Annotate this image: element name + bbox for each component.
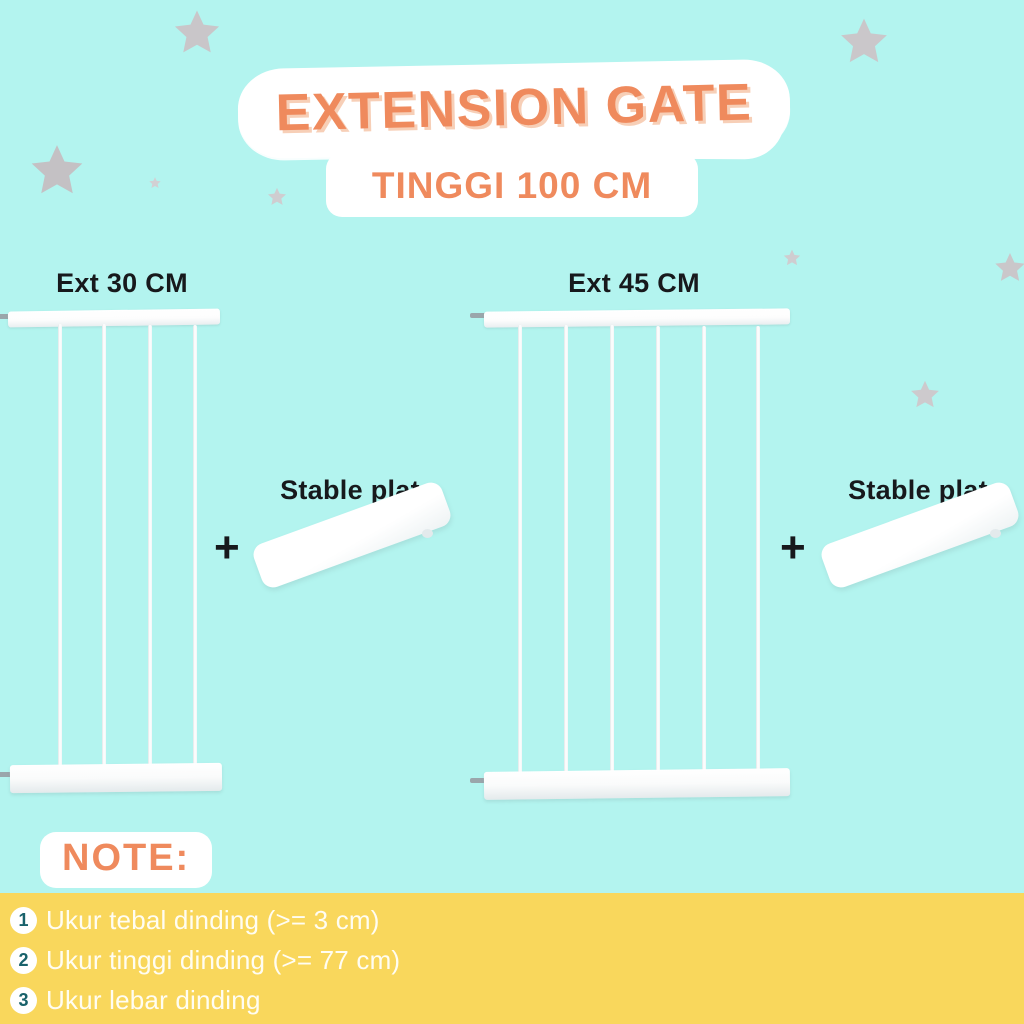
note-item: 2 Ukur tinggi dinding (>= 77 cm) — [10, 940, 610, 980]
gate-bar — [518, 325, 522, 782]
product-label-ext30: Ext 30 CM — [0, 268, 244, 299]
note-number-badge: 1 — [10, 907, 37, 934]
poster-canvas: EXTENSION GATE TINGGI 100 CM Ext 30 CM +… — [0, 0, 1024, 1024]
plus-sign-right: + — [780, 526, 806, 570]
gate-bar — [610, 325, 614, 782]
gate-bar — [58, 324, 62, 776]
gate-bar — [148, 325, 152, 776]
page-subtitle: TINGGI 100 CM — [326, 165, 698, 207]
star-icon — [266, 186, 288, 208]
star-icon — [782, 248, 802, 268]
gate-bottom-rail — [10, 763, 222, 793]
gate-top-rail — [8, 309, 220, 328]
gate-bar — [756, 326, 760, 782]
note-item: 3 Ukur lebar dinding — [10, 980, 610, 1020]
gate-bar — [656, 326, 660, 782]
star-icon — [992, 250, 1024, 286]
note-list: 1 Ukur tebal dinding (>= 3 cm) 2 Ukur ti… — [10, 900, 610, 1020]
note-item-text: Ukur lebar dinding — [46, 985, 261, 1016]
star-icon — [26, 140, 88, 202]
star-icon — [908, 378, 942, 412]
note-item-text: Ukur tinggi dinding (>= 77 cm) — [46, 945, 400, 976]
plus-sign-left: + — [214, 526, 240, 570]
gate-bar — [702, 326, 706, 782]
note-item-text: Ukur tebal dinding (>= 3 cm) — [46, 905, 380, 936]
page-title: EXTENSION GATE — [245, 72, 782, 144]
product-label-ext45: Ext 45 CM — [512, 268, 756, 299]
stable-plat-notch-icon — [990, 529, 1001, 538]
note-number-badge: 3 — [10, 987, 37, 1014]
footer-bar: 1 Ukur tebal dinding (>= 3 cm) 2 Ukur ti… — [0, 893, 1024, 1024]
note-badge-label: NOTE: — [62, 839, 190, 879]
note-number-badge: 2 — [10, 947, 37, 974]
gate-bar — [102, 324, 106, 776]
star-icon — [148, 176, 162, 190]
star-icon — [836, 14, 892, 70]
gate-bar — [564, 325, 568, 782]
stable-plat-notch-icon — [422, 529, 433, 538]
note-badge: NOTE: — [40, 832, 212, 888]
star-icon — [170, 6, 224, 60]
note-item: 1 Ukur tebal dinding (>= 3 cm) — [10, 900, 610, 940]
gate-bottom-rail — [484, 768, 790, 800]
gate-top-rail — [484, 308, 790, 327]
gate-bar — [193, 325, 197, 776]
